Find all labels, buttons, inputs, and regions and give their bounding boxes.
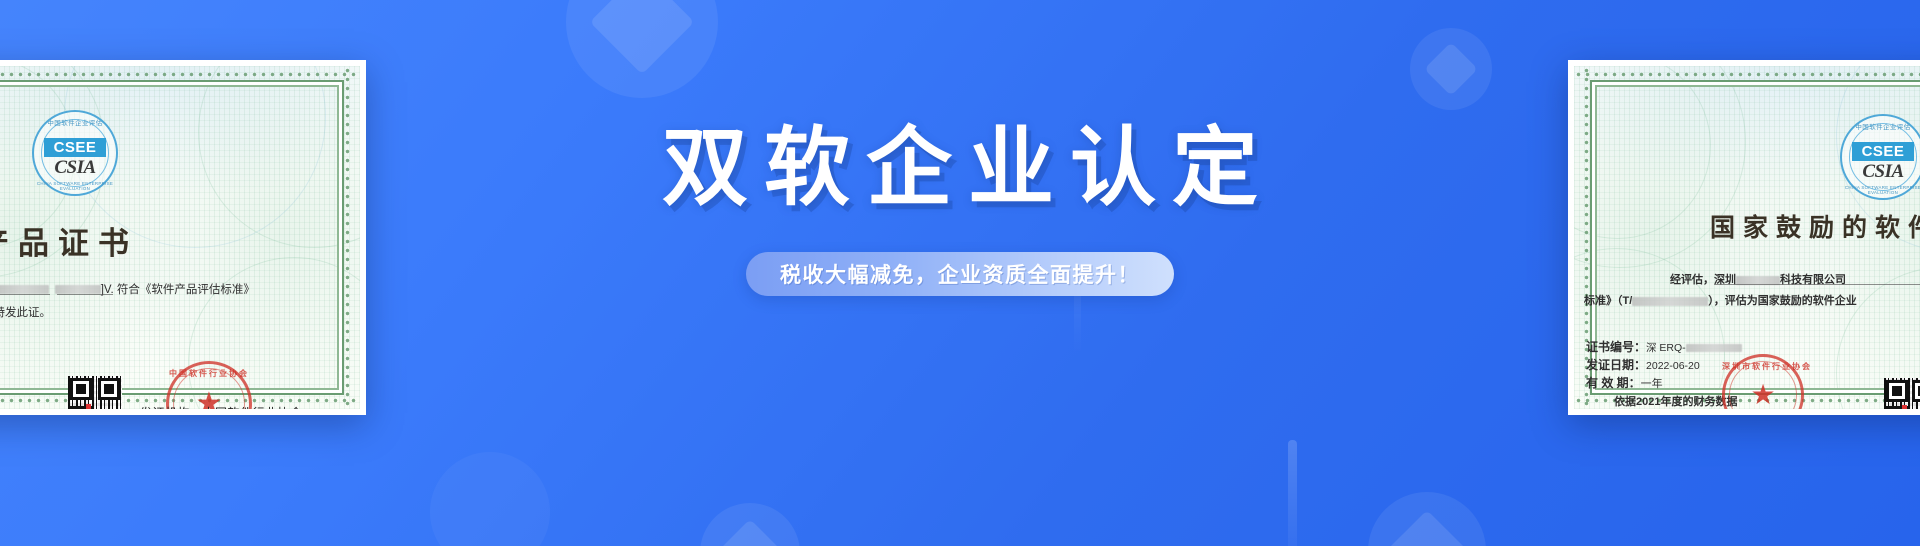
seal-band: CSEE bbox=[1852, 142, 1914, 161]
certificate-field-cert-no: 证书编号：深 ERQ- bbox=[1586, 338, 1742, 355]
certificate-content: 中国软件企业评估 CSEE CSIA CHINA SOFTWARE ENTERP… bbox=[0, 66, 360, 409]
certificate-state-encouraged-software-enterprise: 中国软件企业评估 CSEE CSIA CHINA SOFTWARE ENTERP… bbox=[1568, 60, 1920, 415]
circle-bottom-left-icon bbox=[430, 452, 550, 546]
qr-code bbox=[1884, 378, 1920, 409]
page-title: 双软企业认定 bbox=[646, 120, 1274, 216]
body-suffix: ]V. 符合《软件产品评估标准》 bbox=[101, 284, 255, 296]
tagline-text: 税收大幅减免，企业资质全面提升！ bbox=[780, 259, 1140, 289]
tagline-badge: 税收大幅减免，企业资质全面提升！ bbox=[746, 252, 1174, 296]
certificate-field-issue-date: 发证日期：2022-06-20 bbox=[1586, 356, 1700, 373]
seal-arc-top-text: 中国软件企业评估 bbox=[32, 117, 118, 127]
certificate-title: 国家鼓励的软件企 bbox=[1710, 208, 1920, 244]
field-value: 2022-06-20 bbox=[1646, 360, 1700, 372]
certificate-content: 中国软件企业评估 CSEE CSIA CHINA SOFTWARE ENTERP… bbox=[1574, 66, 1920, 409]
certificate-issuer: 发证机构：中国软件行业协会 bbox=[140, 404, 303, 409]
seal-arc-top-text: 中国软件企业评估 bbox=[1840, 121, 1920, 131]
field-underline bbox=[57, 294, 113, 295]
redacted-field bbox=[1632, 297, 1708, 306]
body-prefix: 标准》（T/ bbox=[1584, 295, 1632, 307]
qr-finder-tr bbox=[98, 378, 120, 400]
seal-band: CSEE bbox=[44, 138, 106, 157]
certificate-paper: 中国软件企业评估 CSEE CSIA CHINA SOFTWARE ENTERP… bbox=[1574, 66, 1920, 409]
redacted-field bbox=[1686, 344, 1742, 352]
certificate-field-validity: 有 效 期：一年 bbox=[1586, 374, 1663, 391]
certificate-body-line-2: 标准》（T/），评估为国家鼓励的软件企业 bbox=[1584, 292, 1857, 308]
qr-logo-dot bbox=[86, 404, 91, 409]
qr-finder-tr bbox=[1912, 380, 1920, 402]
qr-code bbox=[68, 376, 122, 409]
seal-arc-top-text: 中国软件行业协会 bbox=[166, 368, 252, 379]
seal-band-text: CSEE bbox=[1862, 144, 1905, 159]
seal-sub-text: CSIA bbox=[1840, 162, 1920, 181]
seal-arc-bottom-text: CHINA SOFTWARE ENTERPRISE EVALUATION bbox=[32, 181, 118, 191]
promo-banner: 双软企业认定 税收大幅减免，企业资质全面提升！ 中国软件企业评估 bbox=[0, 0, 1920, 546]
certificate-paper: 中国软件企业评估 CSEE CSIA CHINA SOFTWARE ENTERP… bbox=[0, 66, 360, 409]
diamond-shape bbox=[1424, 42, 1478, 96]
csee-csia-seal-icon: 中国软件企业评估 CSEE CSIA CHINA SOFTWARE ENTERP… bbox=[32, 110, 118, 196]
certificate-software-product: 中国软件企业评估 CSEE CSIA CHINA SOFTWARE ENTERP… bbox=[0, 60, 366, 415]
certificate-note: 依据2021年度的财务数据 bbox=[1614, 393, 1737, 409]
field-label: 发证日期： bbox=[1586, 358, 1646, 372]
seal-arc-bottom-text: CHINA SOFTWARE ENTERPRISE EVALUATION bbox=[1840, 185, 1920, 195]
circle-diamond-bottom-right-icon bbox=[1368, 492, 1486, 546]
seal-sub-text: CSIA bbox=[32, 158, 118, 177]
field-underline bbox=[1714, 284, 1920, 285]
qr-finder-tl bbox=[1886, 380, 1908, 402]
red-association-seal-icon: 深圳市软件行业协会 ★ SHENZHEN SOFTWARE INDUSTRY A… bbox=[1722, 354, 1804, 409]
vertical-bar-right bbox=[1288, 440, 1297, 546]
field-label: 证书编号： bbox=[1586, 340, 1646, 354]
certificate-body-line-2: 软件产品，特发此证。 bbox=[0, 304, 51, 320]
circle-diamond-bottom-center-icon bbox=[700, 503, 800, 546]
field-value: 一年 bbox=[1641, 378, 1663, 390]
diamond-shape bbox=[716, 519, 784, 546]
diamond-shape bbox=[1386, 510, 1468, 546]
field-underline bbox=[0, 294, 50, 295]
csee-csia-seal-icon: 中国软件企业评估 CSEE CSIA CHINA SOFTWARE ENTERP… bbox=[1840, 114, 1920, 200]
circle-diamond-top-center-icon bbox=[566, 0, 718, 98]
circle-diamond-top-right-icon bbox=[1410, 28, 1492, 110]
body-suffix: ），评估为国家鼓励的软件企业 bbox=[1708, 295, 1857, 307]
certificate-title: 件产品证书 bbox=[0, 218, 138, 263]
qr-logo-dot bbox=[1902, 405, 1907, 409]
qr-finder-tl bbox=[70, 378, 92, 400]
seal-band-text: CSEE bbox=[54, 140, 97, 155]
field-label: 有 效 期： bbox=[1586, 376, 1641, 390]
diamond-shape bbox=[590, 0, 695, 74]
seal-arc-top-text: 深圳市软件行业协会 bbox=[1722, 361, 1804, 372]
red-association-seal-icon: 中国软件行业协会 ★ CHINA SOFTWARE INDUSTRY ASSOC… bbox=[166, 361, 252, 409]
seal-star-icon: ★ bbox=[1750, 381, 1775, 409]
field-value: 深 ERQ- bbox=[1646, 342, 1686, 354]
